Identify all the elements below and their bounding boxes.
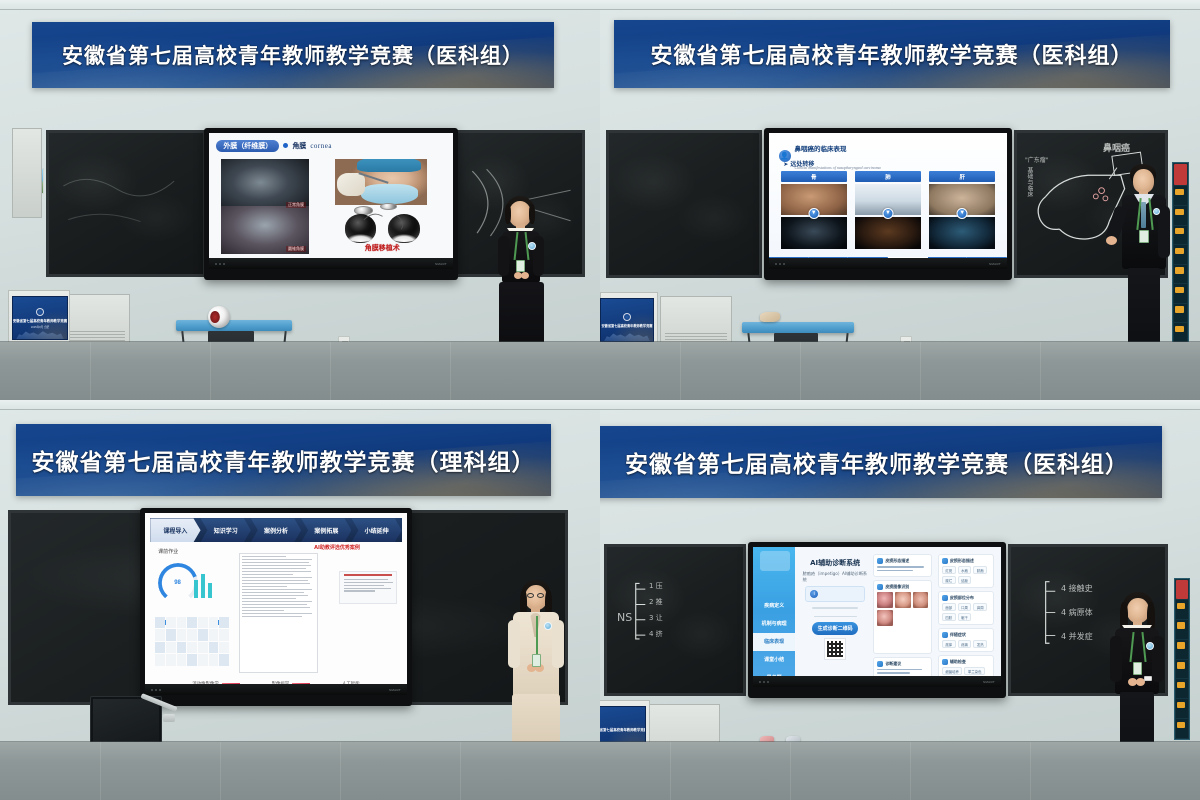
competition-pin-icon bbox=[544, 622, 552, 630]
panel-top-right: 安徽省第七届高校青年教师教学竞赛（医科组） 👤 鼻咽癌的临床表现 Clinica… bbox=[600, 0, 1200, 400]
lesion-description-card: 皮损形态描述 bbox=[873, 554, 932, 577]
slide-red-caption: 角膜移植术 bbox=[365, 243, 400, 253]
banner-title: 安徽省第七届高校青年教师教学竞赛（医科组） bbox=[625, 445, 1129, 479]
lesion-thumb-4[interactable] bbox=[877, 610, 893, 626]
tag-gram-stain[interactable]: 革兰染色 bbox=[964, 667, 985, 675]
callout-text bbox=[821, 590, 860, 598]
display-screen-frame: 👤 鼻咽癌的临床表现 Clinical manifestations of na… bbox=[764, 128, 1012, 280]
screen-brand-logo: SMART bbox=[389, 688, 401, 692]
ai-callout-box: i bbox=[805, 586, 865, 602]
screen-bottom-bar: SMART bbox=[753, 676, 1001, 687]
bar-chart bbox=[194, 572, 212, 598]
card-chip-icon bbox=[877, 584, 883, 590]
chalk-marks-left bbox=[49, 133, 203, 274]
chevron-down-icon: ▼ bbox=[883, 208, 894, 219]
sidebar-item-mechanism-pathology[interactable]: 机制与病理 bbox=[753, 615, 795, 633]
display-screen: 课程导入 知识学习 案例分析 案例拓展 小结延伸 课前作业 AI助教评选优秀案例… bbox=[145, 513, 407, 695]
demo-table bbox=[742, 322, 854, 333]
competition-banner: 安徽省第七届高校青年教师教学竞赛（医科组） bbox=[32, 22, 554, 88]
column-label: 骨 bbox=[781, 171, 847, 182]
pre-class-assignment-label: 课前作业 bbox=[158, 548, 178, 555]
slide-ai-diagnosis: 疾病定义 机制与病理 临床表现 课堂小结 思考题 AI辅助诊断系统 脓疱疮（im… bbox=[753, 547, 1001, 687]
photo-grid: 安徽省第七届高校青年教师教学竞赛（医科组） 外膜（纤 bbox=[0, 0, 1200, 800]
floor bbox=[600, 342, 1200, 400]
chevron-down-icon: ▼ bbox=[957, 208, 968, 219]
panel-top-left: 安徽省第七届高校青年教师教学竞赛（医科组） 外膜（纤 bbox=[0, 0, 600, 400]
name-badge bbox=[1139, 230, 1149, 243]
card-title: 诊断建议 bbox=[885, 661, 901, 667]
wall-chart bbox=[1174, 578, 1190, 740]
card-title: 辅助检查 bbox=[950, 659, 966, 665]
slide-header: 👤 鼻咽癌的临床表现 Clinical manifestations of na… bbox=[779, 138, 881, 174]
column-bone: 骨 ▼ bbox=[781, 171, 847, 249]
tag-perioral[interactable]: 口周 bbox=[958, 603, 972, 611]
lesion-thumb-2[interactable] bbox=[895, 592, 911, 608]
card-title: 皮损形态描述 bbox=[885, 558, 909, 564]
display-screen: 外膜（纤维膜） 角膜 cornea 正常角膜 圆锥角膜 bbox=[209, 133, 453, 269]
lesion-thumbnails[interactable] bbox=[877, 592, 928, 625]
skull-bone-model bbox=[760, 312, 780, 322]
bullet-dot-icon bbox=[283, 143, 288, 148]
hand-right bbox=[521, 272, 529, 279]
arm-left bbox=[1110, 636, 1122, 682]
chalk-note-ns: NS bbox=[617, 611, 632, 624]
glasses-icon-right bbox=[537, 593, 544, 598]
accompanying-symptoms-card: 伴随症状 瘙痒 疼痛 发热 bbox=[938, 628, 994, 652]
course-step-nav[interactable]: 课程导入 知识学习 案例分析 案例拓展 小结延伸 bbox=[150, 518, 402, 542]
slide-main-content: AI辅助诊断系统 脓疱疮（impetigo）AI辅助诊断系统 i bbox=[795, 547, 1001, 687]
sidebar-item-class-summary[interactable]: 课堂小结 bbox=[753, 651, 795, 669]
tag-erythema[interactable]: 红斑 bbox=[942, 566, 956, 574]
display-screen: 疾病定义 机制与病理 临床表现 课堂小结 思考题 AI辅助诊断系统 脓疱疮（im… bbox=[753, 547, 1001, 687]
step-course-intro[interactable]: 课程导入 bbox=[150, 518, 200, 542]
card-chip-icon bbox=[877, 558, 883, 564]
competition-banner: 安徽省第七届高校青年教师教学竞赛（理科组） bbox=[16, 424, 551, 496]
info-icon: i bbox=[810, 590, 818, 598]
analytics-dashboard: 98 bbox=[153, 557, 232, 670]
ceiling-line bbox=[600, 409, 1200, 410]
step-case-analysis[interactable]: 案例分析 bbox=[251, 518, 301, 542]
screen-bottom-bar: SMART bbox=[769, 258, 1007, 269]
chalk-note-basic-clinical: 基础与临床 bbox=[1025, 167, 1034, 197]
display-screen: 👤 鼻咽癌的临床表现 Clinical manifestations of na… bbox=[769, 133, 1007, 269]
lesion-thumb-1[interactable] bbox=[877, 592, 893, 608]
podium-sign-text: 安徽省第七届高校青年教师教学竞赛 bbox=[602, 323, 653, 328]
lanyard-strap bbox=[536, 616, 538, 656]
section-label: 远处转移 bbox=[790, 161, 814, 168]
column-liver: 肝 ▼ bbox=[929, 171, 995, 249]
arm-left bbox=[498, 236, 509, 276]
slide-sidebar[interactable]: 疾病定义 机制与病理 临床表现 课堂小结 思考题 bbox=[753, 547, 795, 687]
tag-crust[interactable]: 结痂 bbox=[958, 576, 972, 584]
diagnosis-qr-code[interactable] bbox=[824, 638, 846, 660]
ai-system-subtitle: 脓疱疮（impetigo）AI辅助诊断系统 bbox=[803, 571, 868, 583]
blackboard-left bbox=[46, 130, 206, 277]
hand-pointing bbox=[1106, 236, 1117, 245]
competition-emblem-icon bbox=[623, 313, 631, 321]
card-chip-icon bbox=[942, 558, 948, 564]
slide-title: 鼻咽癌的临床表现 bbox=[795, 145, 847, 153]
podium-sign-text: 安徽省第七届高校青年教师教学竞赛 bbox=[13, 318, 67, 323]
card-chip-icon bbox=[942, 632, 948, 638]
name-badge bbox=[532, 654, 541, 667]
floor bbox=[0, 342, 600, 400]
slide-subtitle-cn: 角膜 bbox=[292, 141, 306, 151]
display-screen-frame: 疾病定义 机制与病理 临床表现 课堂小结 思考题 AI辅助诊断系统 脓疱疮（im… bbox=[748, 542, 1006, 698]
chevron-down-icon: ▼ bbox=[808, 208, 819, 219]
chalk-note-complications: 4 并发症 bbox=[1061, 631, 1093, 642]
lesion-morphology-card: 皮损形态描述 红斑 水疱 脓疱 糜烂 结痂 bbox=[938, 554, 994, 588]
image-recognition-column: 皮损形态描述 皮损图像识别 bbox=[873, 554, 932, 679]
podium-sign-text: 安徽省第七届高校青年教师教学竞赛 bbox=[600, 727, 646, 732]
tag-trunk[interactable]: 躯干 bbox=[958, 613, 972, 621]
lesion-thumb-3[interactable] bbox=[913, 592, 929, 608]
case-document bbox=[239, 553, 318, 673]
screen-buttons[interactable] bbox=[151, 689, 161, 691]
card-chip-icon bbox=[877, 661, 883, 667]
wall-chart-header bbox=[1176, 580, 1188, 599]
panel-bottom-right: 安徽省第七届高校青年教师教学竞赛（医科组） NS 1 压 2 推 3 让 4 挤… bbox=[600, 400, 1200, 800]
slide-course-flow: 课程导入 知识学习 案例分析 案例拓展 小结延伸 课前作业 AI助教评选优秀案例… bbox=[145, 513, 407, 695]
tag-erosion[interactable]: 糜烂 bbox=[942, 576, 956, 584]
slide-title-pill: 外膜（纤维膜） bbox=[216, 140, 279, 152]
name-badge bbox=[516, 260, 525, 272]
document-camera-head bbox=[163, 714, 175, 722]
caption-normal-cornea: 正常角膜 bbox=[286, 202, 306, 208]
card-title: 皮损图像识别 bbox=[885, 584, 909, 590]
competition-banner: 安徽省第七届高校青年教师教学竞赛（医科组） bbox=[614, 20, 1170, 88]
competition-pin-icon bbox=[1153, 208, 1160, 215]
screen-brand-logo: SMART bbox=[435, 262, 447, 266]
podium-sign-date: 2025年8月 合肥 bbox=[31, 325, 49, 329]
competition-pin-icon bbox=[528, 242, 536, 250]
metastasis-columns: 骨 ▼ 肺 ▼ 肝 bbox=[781, 171, 995, 249]
hair-side-right bbox=[529, 204, 535, 224]
tag-perinasal[interactable]: 鼻周 bbox=[973, 603, 987, 611]
tag-limbs[interactable]: 四肢 bbox=[942, 613, 956, 621]
bone-scan-image bbox=[781, 217, 847, 248]
display-screen-frame: 课程导入 知识学习 案例分析 案例拓展 小结延伸 课前作业 AI助教评选优秀案例… bbox=[140, 508, 412, 706]
column-label: 肝 bbox=[929, 171, 995, 182]
chalk-note-npc: 鼻咽癌 bbox=[1103, 141, 1130, 154]
lesion-distribution-card: 皮损部位分布 面部 口周 鼻周 四肢 躯干 bbox=[938, 591, 994, 625]
tag-bacterial-culture[interactable]: 细菌培养 bbox=[942, 667, 963, 675]
card-chip-icon bbox=[942, 595, 948, 601]
corneal-transplant-illustration: 角膜移植术 bbox=[324, 159, 441, 254]
ai-intro-column: AI辅助诊断系统 脓疱疮（impetigo）AI辅助诊断系统 i bbox=[803, 554, 868, 679]
tag-vesicle[interactable]: 水疱 bbox=[958, 566, 972, 574]
tag-itching[interactable]: 瘙痒 bbox=[942, 640, 956, 648]
wall-cabinet-left bbox=[12, 128, 42, 218]
slide-cornea: 外膜（纤维膜） 角膜 cornea 正常角膜 圆锥角膜 bbox=[209, 133, 453, 269]
competition-banner: 安徽省第七届高校青年教师教学竞赛（医科组） bbox=[600, 426, 1162, 498]
chest-ct-image bbox=[855, 217, 921, 248]
app-logo-icon bbox=[760, 551, 790, 571]
donor-eye-model bbox=[388, 214, 420, 243]
demo-table bbox=[176, 320, 292, 331]
lesion-image-card: 皮损图像识别 bbox=[873, 580, 932, 653]
banner-title: 安徽省第七届高校青年教师教学竞赛（医科组） bbox=[650, 38, 1133, 70]
screen-buttons[interactable] bbox=[759, 681, 769, 683]
card-title: 皮损部位分布 bbox=[950, 595, 974, 601]
step-knowledge-learning[interactable]: 知识学习 bbox=[201, 518, 251, 542]
chalk-note-3: 3 让 bbox=[649, 613, 663, 623]
card-title: 皮损形态描述 bbox=[950, 558, 974, 564]
banner-title: 安徽省第七届高校青年教师教学竞赛（理科组） bbox=[32, 443, 536, 477]
floor bbox=[600, 742, 1200, 800]
column-label: 肺 bbox=[855, 171, 921, 182]
hair-side-left bbox=[505, 204, 511, 224]
normal-cornea-image bbox=[221, 159, 309, 207]
name-badge bbox=[1133, 662, 1142, 675]
surgeon-photo bbox=[335, 159, 426, 205]
floor bbox=[0, 742, 600, 800]
screen-bottom-bar: SMART bbox=[145, 684, 407, 695]
chalk-note-4: 4 挤 bbox=[649, 629, 663, 639]
column-lung: 肺 ▼ bbox=[855, 171, 921, 249]
skyline-graphic bbox=[604, 328, 650, 341]
card-title: 伴随症状 bbox=[950, 632, 966, 638]
arm-left bbox=[1158, 206, 1170, 258]
competition-emblem-icon bbox=[36, 308, 44, 316]
ai-system-title: AI辅助诊断系统 bbox=[810, 558, 860, 568]
tag-fever[interactable]: 发热 bbox=[973, 640, 987, 648]
surgical-cap bbox=[357, 159, 421, 172]
card-chip-icon bbox=[942, 659, 948, 665]
screen-brand-logo: SMART bbox=[989, 262, 1001, 266]
eyeball-model bbox=[208, 306, 230, 328]
slide-title-bar: 外膜（纤维膜） 角膜 cornea bbox=[216, 138, 332, 153]
display-screen-frame: 外膜（纤维膜） 角膜 cornea 正常角膜 圆锥角膜 bbox=[204, 128, 458, 280]
podium-sign: 安徽省第七届高校青年教师教学竞赛 2025年8月 合肥 bbox=[12, 296, 68, 340]
ai-comment-panel bbox=[339, 571, 397, 604]
tag-pain[interactable]: 疼痛 bbox=[958, 640, 972, 648]
sidebar-item-disease-definition[interactable]: 疾病定义 bbox=[753, 597, 795, 615]
arm-left bbox=[508, 620, 520, 668]
ai-case-title: AI助教评选优秀案例 bbox=[314, 544, 360, 551]
chalk-note-1: 1 压 bbox=[649, 581, 663, 591]
student-score-table bbox=[155, 617, 229, 667]
slide-subtitle-en: cornea bbox=[310, 142, 332, 150]
surgical-mask bbox=[361, 184, 418, 203]
cornea-comparison-images: 正常角膜 圆锥角膜 bbox=[221, 159, 309, 254]
screen-bottom-bar: SMART bbox=[209, 258, 453, 269]
chalk-note-2: 2 推 bbox=[649, 597, 663, 607]
screen-buttons[interactable] bbox=[215, 263, 225, 265]
gauge-value: 98 bbox=[158, 563, 198, 603]
screen-brand-logo: SMART bbox=[983, 680, 995, 684]
graft-cornea-disc bbox=[380, 203, 398, 211]
arm-right bbox=[1152, 636, 1164, 682]
gloved-hand bbox=[337, 173, 364, 197]
liver-mri-image bbox=[929, 217, 995, 248]
chalk-note-guangdong-tumor: "广东瘤" bbox=[1025, 155, 1049, 164]
podium-sign: 安徽省第七届高校青年教师教学竞赛 bbox=[600, 298, 654, 342]
blackboard-left: NS 1 压 2 推 3 让 4 挤 bbox=[604, 544, 746, 696]
slide-section-heading: ➤ 远处转移 bbox=[783, 159, 814, 168]
slide-npc-clinical: 👤 鼻咽癌的临床表现 Clinical manifestations of na… bbox=[769, 133, 1007, 269]
step-summary-extension[interactable]: 小结延伸 bbox=[351, 518, 401, 542]
ceiling-line bbox=[0, 9, 600, 10]
blackboard-left bbox=[606, 130, 762, 278]
tag-face[interactable]: 面部 bbox=[942, 603, 956, 611]
wrist-band bbox=[1144, 676, 1152, 681]
monitor-screen bbox=[93, 699, 159, 747]
arm-right bbox=[552, 620, 564, 668]
tag-pustule[interactable]: 脓疱 bbox=[973, 566, 987, 574]
screen-buttons[interactable] bbox=[775, 263, 785, 265]
sidebar-item-clinical-manifestations[interactable]: 临床表现 bbox=[753, 633, 795, 651]
glasses-icon bbox=[527, 593, 534, 598]
panel-bottom-left: 安徽省第七届高校青年教师教学竞赛（理科组） 课程导入 知识学习 案例分析 案例拓… bbox=[0, 400, 600, 800]
symptom-tags-column: 皮损形态描述 红斑 水疱 脓疱 糜烂 结痂 bbox=[938, 554, 994, 679]
necktie bbox=[1141, 202, 1146, 228]
caption-keratoconus: 圆锥角膜 bbox=[286, 246, 306, 252]
competition-pin-icon bbox=[1146, 642, 1154, 650]
chalk-note-pathogen: 4 病原体 bbox=[1061, 607, 1093, 618]
ceiling-line bbox=[0, 409, 600, 410]
ceiling-line bbox=[600, 9, 1200, 10]
generate-qr-button[interactable]: 生成诊断二维码 bbox=[812, 622, 859, 635]
step-case-extension[interactable]: 案例拓展 bbox=[301, 518, 351, 542]
banner-title: 安徽省第七届高校青年教师教学竞赛（医科组） bbox=[62, 40, 524, 70]
chalk-note-contact-history: 4 接触史 bbox=[1061, 583, 1093, 594]
recipient-eye-model bbox=[345, 214, 377, 243]
